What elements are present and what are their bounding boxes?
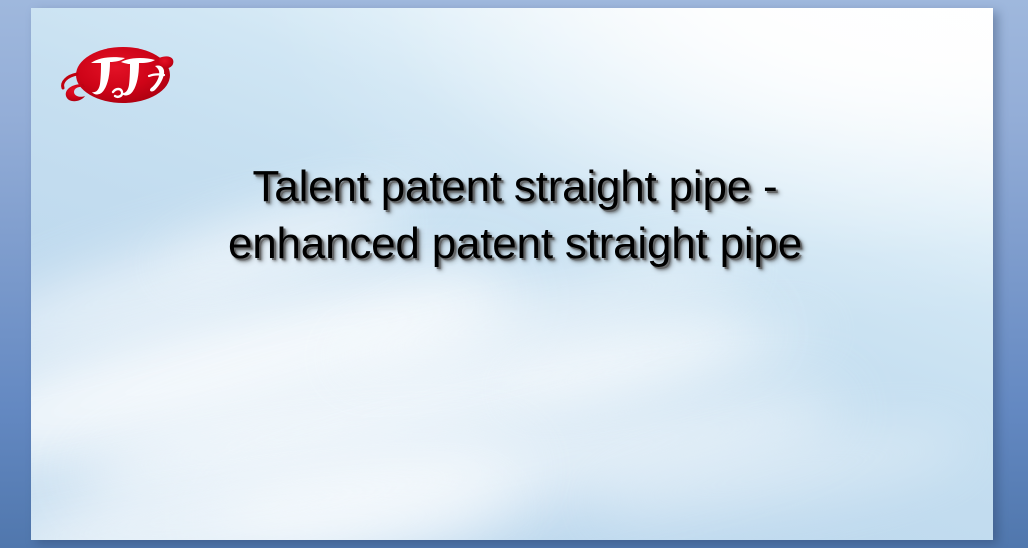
title-line-2: enhanced patent straight pipe [91,215,939,272]
tf-monogram-logo [55,30,187,114]
slide-title: Talent patent straight pipe - enhanced p… [91,158,939,272]
presentation-viewer: Talent patent straight pipe - enhanced p… [0,0,1028,548]
slide-canvas: Talent patent straight pipe - enhanced p… [31,8,993,540]
title-line-1: Talent patent straight pipe - [91,158,939,215]
